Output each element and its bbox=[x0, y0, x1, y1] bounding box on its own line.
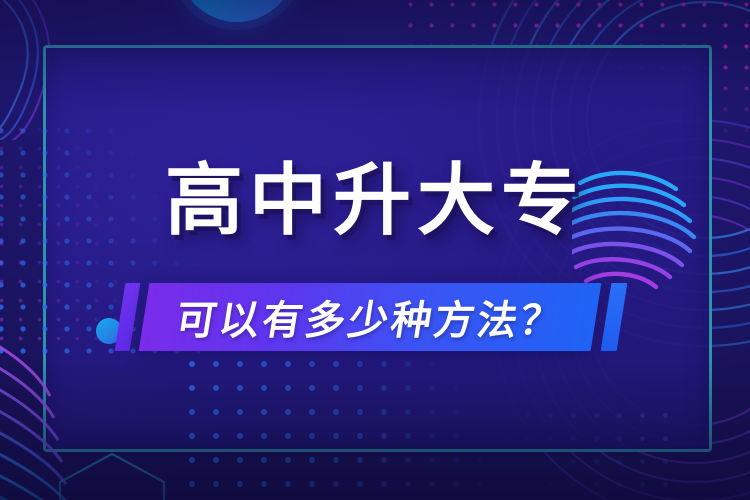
page-title: 高中升大专 bbox=[165, 162, 585, 240]
background-vignette bbox=[0, 0, 750, 500]
subtitle-banner-row: 可以有多少种方法？ bbox=[0, 283, 750, 351]
page-subtitle: 可以有多少种方法？ bbox=[172, 288, 568, 346]
accent-bar-right bbox=[601, 283, 628, 351]
title-block: 高中升大专 bbox=[0, 162, 750, 240]
poster-canvas: 高中升大专 可以有多少种方法？ bbox=[0, 0, 750, 500]
accent-bar-left bbox=[115, 283, 141, 351]
subtitle-banner-text-wrap: 可以有多少种方法？ bbox=[144, 283, 596, 351]
